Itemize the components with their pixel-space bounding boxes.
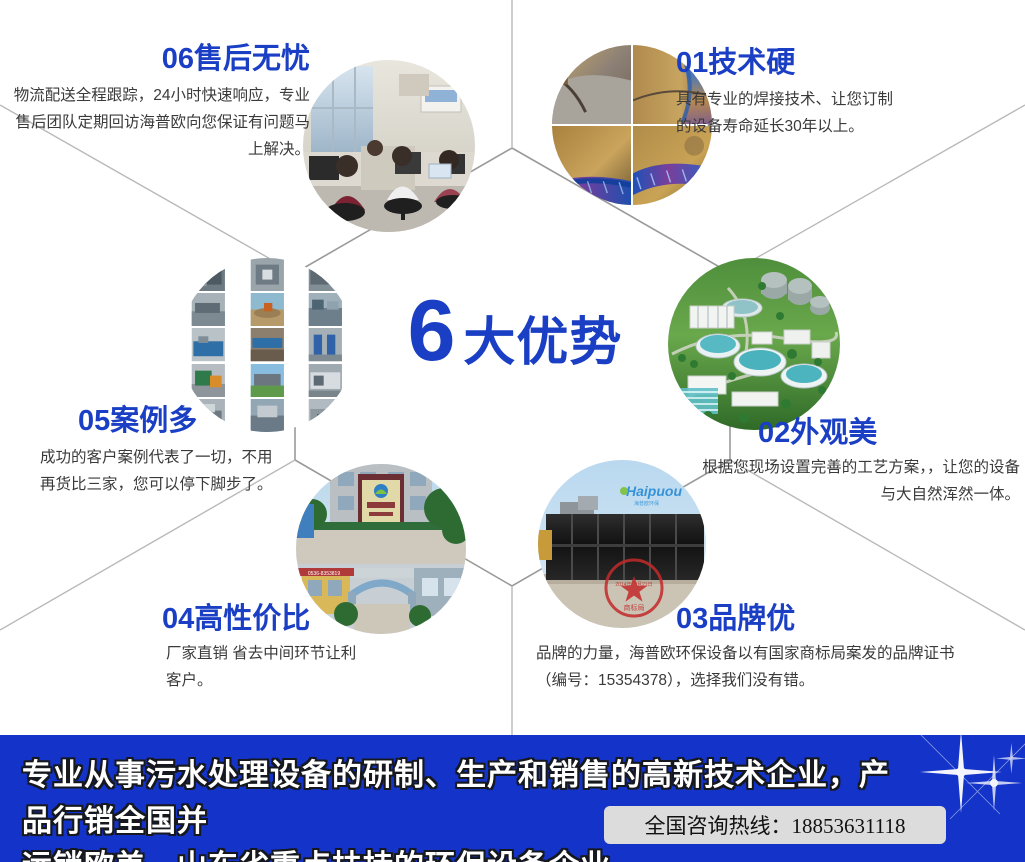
case-photo-6 [297, 293, 354, 326]
office-staff-photo [303, 60, 475, 232]
case-photo-2 [239, 258, 296, 291]
advantage-02-heading: 02外观美 [700, 418, 1020, 448]
footer-line-2: 远销欧美，山东省重点扶持的环保设备企业。 [22, 844, 902, 862]
advantage-04-text: 04高性价比 厂家直销 省去中间环节让利客户。 [128, 604, 488, 695]
case-photo-1 [180, 258, 237, 291]
weld-photo-1 [552, 45, 631, 124]
case-photo-4 [180, 293, 237, 326]
advantage-06-heading: 06售后无忧 [10, 44, 310, 74]
case-photo-10 [180, 364, 237, 397]
hotline-text: 全国咨询热线：18853631118 [645, 810, 906, 840]
case-photo-8 [239, 328, 296, 361]
advantage-01-text: 01技术硬 具有专业的焊接技术、让您订制的设备寿命延长30年以上。 [676, 48, 976, 141]
center-number: 6 [408, 288, 454, 374]
case-photo-5 [239, 293, 296, 326]
advantage-02-text: 02外观美 根据您现场设置完善的工艺方案，，让您的设备与大自然浑然一体。 [700, 418, 1020, 509]
advantage-05-body: 成功的客户案例代表了一切，不用再货比三家，您可以停下脚步了。 [40, 445, 278, 498]
svg-text:2014年10月21日: 2014年10月21日 [615, 581, 652, 588]
case-photo-12 [297, 364, 354, 397]
advantage-06-text: 06售后无忧 物流配送全程跟踪，24小时快速响应，专业售后团队定期回访海普欧向您… [10, 44, 310, 163]
case-photo-9 [297, 328, 354, 361]
advantage-05-text: 05案例多 成功的客户案例代表了一切，不用再货比三家，您可以停下脚步了。 [40, 406, 340, 499]
advantage-02-image [668, 258, 840, 430]
advantage-01-heading: 01技术硬 [676, 48, 976, 78]
center-text: 大优势 [463, 317, 622, 369]
case-photo-3 [297, 258, 354, 291]
svg-text:Haipuou: Haipuou [626, 483, 682, 499]
case-photo-11 [239, 364, 296, 397]
advantage-04-heading: 04高性价比 [128, 604, 488, 634]
six-advantages-infographic: 6 大优势 [0, 0, 1025, 862]
center-label: 6 大优势 [380, 288, 650, 383]
advantage-06-body: 物流配送全程跟踪，24小时快速响应，专业售后团队定期回访海普欧向您保证有问题马上… [10, 83, 310, 163]
advantage-01-body: 具有专业的焊接技术、让您订制的设备寿命延长30年以上。 [676, 87, 906, 140]
advantage-03-body: 品牌的力量，海普欧环保设备以有国家商标局案发的品牌证书（编号：15354378）… [536, 641, 956, 694]
advantage-05-heading: 05案例多 [40, 406, 340, 436]
advantage-02-body: 根据您现场设置完善的工艺方案，，让您的设备与大自然浑然一体。 [700, 455, 1020, 508]
advantage-03-text: 03品牌优 品牌的力量，海普欧环保设备以有国家商标局案发的品牌证书（编号：153… [536, 604, 956, 695]
advantage-04-body: 厂家直销 省去中间环节让利客户。 [128, 641, 366, 694]
aerial-treatment-plant-photo [668, 258, 840, 430]
svg-text:0536-8353819: 0536-8353819 [308, 571, 340, 577]
svg-text:海普欧环保: 海普欧环保 [634, 500, 659, 507]
advantage-06-image [303, 60, 475, 232]
hotline-box[interactable]: 全国咨询热线：18853631118 [604, 806, 946, 844]
case-photo-7 [180, 328, 237, 361]
weld-photo-3 [552, 126, 631, 205]
advantage-03-heading: 03品牌优 [536, 604, 956, 634]
